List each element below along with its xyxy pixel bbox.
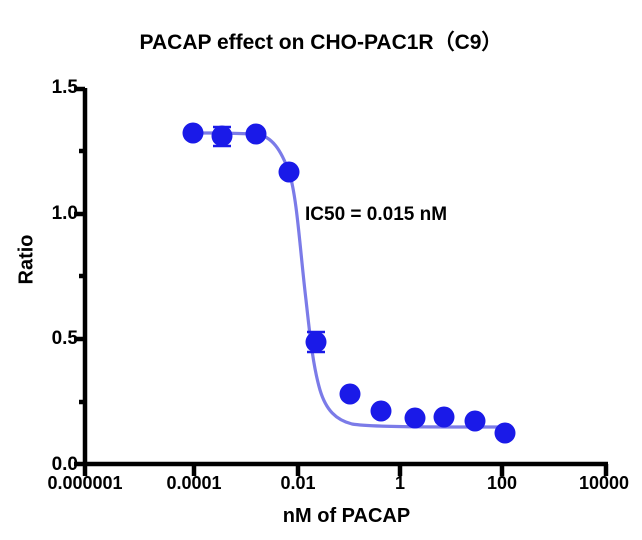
data-point [340, 384, 361, 405]
data-points [183, 123, 516, 444]
data-point [306, 332, 327, 353]
data-point [183, 123, 204, 144]
fit-curve [193, 133, 500, 427]
chart-figure: PACAP effect on CHO-PAC1R（C9） Ratio 1.5 … [0, 0, 642, 540]
data-point [405, 408, 426, 429]
data-point [465, 411, 486, 432]
data-point [371, 401, 392, 422]
data-point [434, 407, 455, 428]
data-point [279, 162, 300, 183]
data-point [495, 423, 516, 444]
axis-lines [83, 88, 608, 465]
data-point [212, 126, 233, 147]
data-point [246, 124, 267, 145]
plot-area [0, 0, 642, 540]
